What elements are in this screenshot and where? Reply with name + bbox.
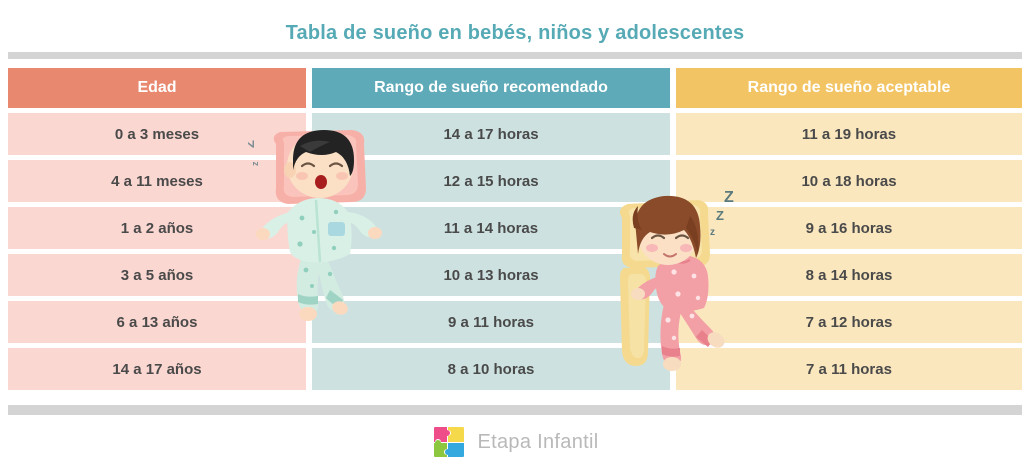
cell-recommended: 14 a 17 horas (312, 113, 670, 155)
table-row: 14 a 17 años 8 a 10 horas 7 a 11 horas (8, 348, 1022, 390)
cell-recommended: 11 a 14 horas (312, 207, 670, 249)
cell-acceptable: 7 a 11 horas (676, 348, 1022, 390)
cell-recommended: 9 a 11 horas (312, 301, 670, 343)
cell-age: 14 a 17 años (8, 348, 306, 390)
table-row: 3 a 5 años 10 a 13 horas 8 a 14 horas (8, 254, 1022, 296)
sleep-chart-infographic: Tabla de sueño en bebés, niños y adolesc… (0, 0, 1030, 476)
table-header-row: Edad Rango de sueño recomendado Rango de… (8, 68, 1022, 108)
cell-recommended: 10 a 13 horas (312, 254, 670, 296)
column-header-acceptable: Rango de sueño aceptable (676, 68, 1022, 108)
cell-acceptable: 9 a 16 horas (676, 207, 1022, 249)
page-title: Tabla de sueño en bebés, niños y adolesc… (0, 22, 1030, 45)
cell-recommended: 8 a 10 horas (312, 348, 670, 390)
divider-bottom (8, 405, 1022, 415)
cell-acceptable: 8 a 14 horas (676, 254, 1022, 296)
cell-acceptable: 10 a 18 horas (676, 160, 1022, 202)
column-header-age: Edad (8, 68, 306, 108)
cell-age: 1 a 2 años (8, 207, 306, 249)
brand-name: Etapa Infantil (478, 431, 599, 454)
cell-acceptable: 11 a 19 horas (676, 113, 1022, 155)
cell-age: 6 a 13 años (8, 301, 306, 343)
column-header-recommended: Rango de sueño recomendado (312, 68, 670, 108)
cell-age: 3 a 5 años (8, 254, 306, 296)
cell-age: 4 a 11 meses (8, 160, 306, 202)
divider-top (8, 52, 1022, 59)
footer: Etapa Infantil (0, 425, 1030, 459)
cell-recommended: 12 a 15 horas (312, 160, 670, 202)
cell-age: 0 a 3 meses (8, 113, 306, 155)
cell-acceptable: 7 a 12 horas (676, 301, 1022, 343)
table-row: 1 a 2 años 11 a 14 horas 9 a 16 horas (8, 207, 1022, 249)
table-row: 6 a 13 años 9 a 11 horas 7 a 12 horas (8, 301, 1022, 343)
table-row: 4 a 11 meses 12 a 15 horas 10 a 18 horas (8, 160, 1022, 202)
sleep-table: Edad Rango de sueño recomendado Rango de… (8, 68, 1022, 395)
table-row: 0 a 3 meses 14 a 17 horas 11 a 19 horas (8, 113, 1022, 155)
puzzle-icon (432, 425, 466, 459)
